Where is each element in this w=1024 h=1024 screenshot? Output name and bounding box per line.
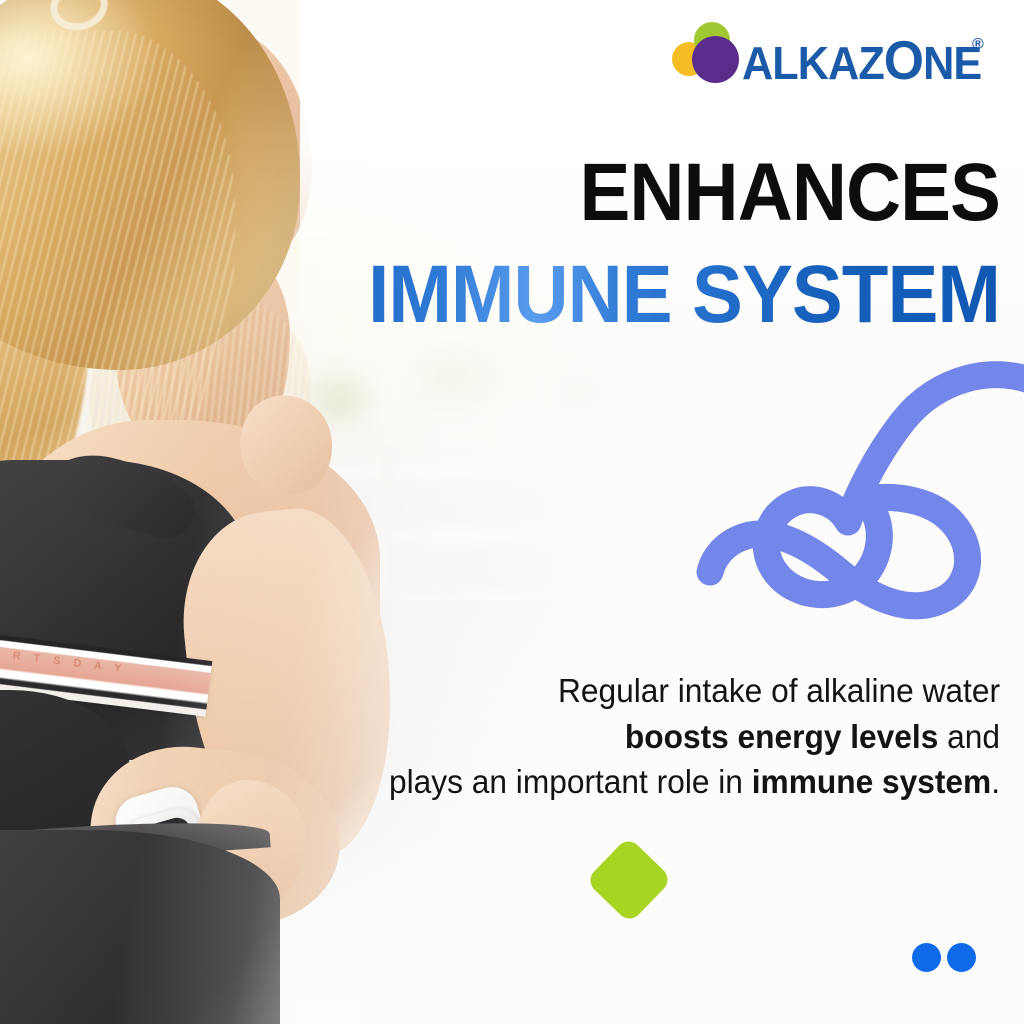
body-line-3-tail: . xyxy=(991,763,1000,800)
logo-word-big-o: O xyxy=(884,29,923,91)
body-line-2-tail: and xyxy=(938,718,1000,755)
blue-dots-accent xyxy=(912,943,976,973)
swirl-icon xyxy=(690,358,1024,628)
headline-block: ENHANCES IMMUNE SYSTEM xyxy=(0,152,1000,336)
poster-canvas: S P O R T S D A Y ALKAZONE ® ENHANCES IM… xyxy=(0,0,1024,1024)
body-line-3-bold: immune system xyxy=(752,763,991,800)
decorative-swirl xyxy=(690,358,1024,628)
body-line-3: plays an important role in immune system… xyxy=(261,759,1000,805)
blue-dot-icon xyxy=(912,943,941,972)
logo-wordmark: ALKAZONE xyxy=(742,28,981,92)
body-line-2-bold: boosts energy levels xyxy=(625,718,938,755)
headline-line-2: IMMUNE SYSTEM xyxy=(70,254,1000,336)
body-line-2: boosts energy levels and xyxy=(261,714,1000,760)
registered-trademark-icon: ® xyxy=(972,36,984,54)
brand-logo[interactable]: ALKAZONE ® xyxy=(672,22,992,84)
body-copy-block: Regular intake of alkaline water boosts … xyxy=(261,668,1000,805)
blue-dot-icon xyxy=(947,943,976,972)
body-line-1: Regular intake of alkaline water xyxy=(261,668,1000,714)
logo-word-part-1: ALKAZ xyxy=(742,37,884,89)
headline-line-1: ENHANCES xyxy=(70,152,1000,234)
logo-circle-purple-icon xyxy=(692,36,739,83)
body-line-3-lead: plays an important role in xyxy=(389,763,752,800)
logo-circles-icon xyxy=(672,22,748,80)
